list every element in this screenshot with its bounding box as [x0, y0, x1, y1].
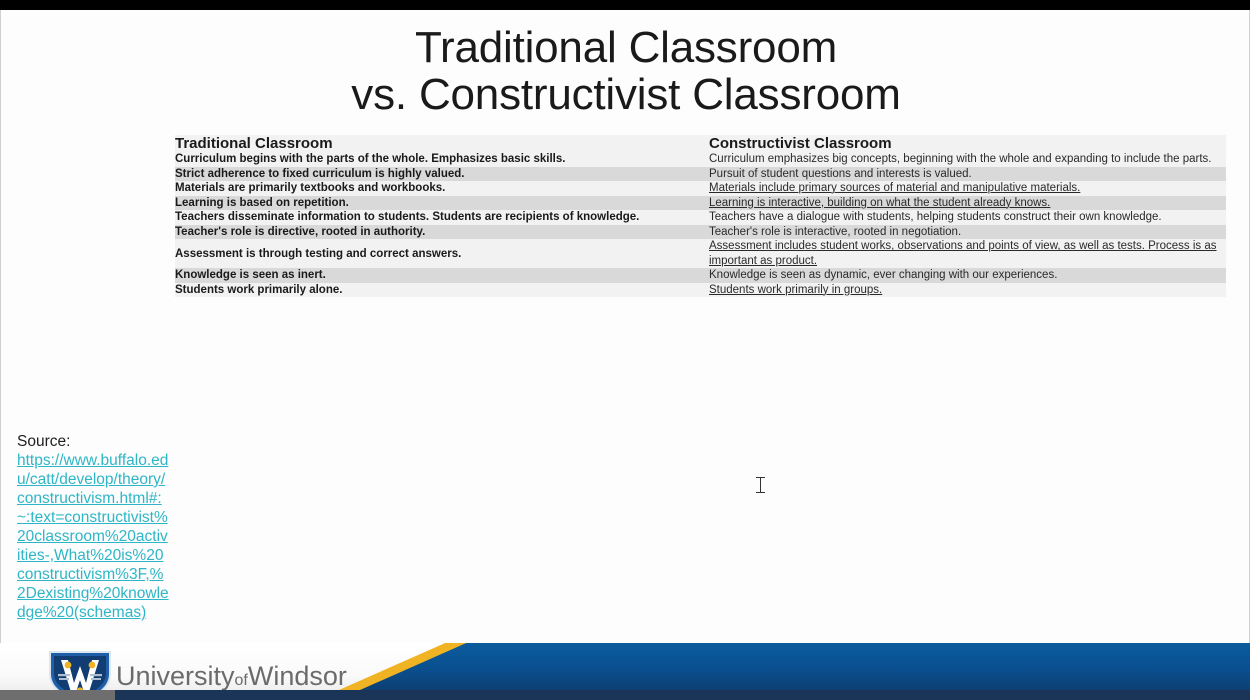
- traditional-cell: Materials are primarily textbooks and wo…: [175, 181, 709, 196]
- column-header-constructivist: Constructivist Classroom: [709, 135, 1226, 152]
- constructivist-cell-link[interactable]: Students work primarily in groups.: [709, 284, 882, 296]
- source-citation: Source: https://www.buffalo.edu/catt/dev…: [17, 432, 169, 622]
- constructivist-cell: Teacher's role is interactive, rooted in…: [709, 225, 1226, 240]
- constructivist-cell-link[interactable]: Learning is interactive, building on wha…: [709, 197, 1050, 209]
- constructivist-cell-link[interactable]: Assessment includes student works, obser…: [709, 240, 1217, 267]
- constructivist-cell: Teachers have a dialogue with students, …: [709, 210, 1226, 225]
- traditional-cell: Teacher's role is directive, rooted in a…: [175, 225, 709, 240]
- constructivist-cell-text: Pursuit of student questions and interes…: [709, 168, 972, 180]
- slide-canvas: Traditional Classroom vs. Constructivist…: [0, 10, 1250, 643]
- constructivist-cell[interactable]: Learning is interactive, building on wha…: [709, 196, 1226, 211]
- page-title-line-1: Traditional Classroom: [415, 23, 837, 72]
- text-cursor-icon: [755, 476, 766, 494]
- constructivist-cell-text: Teacher's role is interactive, rooted in…: [709, 226, 961, 238]
- traditional-cell: Students work primarily alone.: [175, 283, 709, 298]
- page-title: Traditional Classroom vs. Constructivist…: [1, 24, 1250, 118]
- source-link[interactable]: https://www.buffalo.edu/catt/develop/the…: [17, 452, 169, 621]
- wordmark-university: University: [116, 661, 235, 691]
- traditional-cell: Teachers disseminate information to stud…: [175, 210, 709, 225]
- traditional-cell: Curriculum begins with the parts of the …: [175, 152, 709, 167]
- constructivist-cell: Pursuit of student questions and interes…: [709, 167, 1226, 182]
- comparison-table: Traditional ClassroomConstructivist Clas…: [175, 135, 1226, 297]
- column-header-traditional: Traditional Classroom: [175, 135, 709, 152]
- constructivist-cell: Knowledge is seen as dynamic, ever chang…: [709, 268, 1226, 283]
- table-row: Knowledge is seen as inert.Knowledge is …: [175, 268, 1226, 283]
- constructivist-cell-link[interactable]: Materials include primary sources of mat…: [709, 182, 1080, 194]
- bottom-strip-blue: [115, 690, 1250, 700]
- table-row: Strict adherence to fixed curriculum is …: [175, 167, 1226, 182]
- constructivist-cell-text: Curriculum emphasizes big concepts, begi…: [709, 153, 1211, 165]
- university-wordmark: UniversityofWindsor: [116, 660, 347, 692]
- table-row: Teacher's role is directive, rooted in a…: [175, 225, 1226, 240]
- top-black-bar: [0, 0, 1250, 10]
- traditional-cell: Strict adherence to fixed curriculum is …: [175, 167, 709, 182]
- wordmark-windsor: Windsor: [248, 661, 347, 691]
- traditional-cell: Learning is based on repetition.: [175, 196, 709, 211]
- table-row: Students work primarily alone.Students w…: [175, 283, 1226, 298]
- constructivist-cell[interactable]: Assessment includes student works, obser…: [709, 239, 1226, 268]
- constructivist-cell[interactable]: Materials include primary sources of mat…: [709, 181, 1226, 196]
- constructivist-cell: Curriculum emphasizes big concepts, begi…: [709, 152, 1226, 167]
- wordmark-of: of: [235, 672, 248, 689]
- constructivist-cell-text: Teachers have a dialogue with students, …: [709, 211, 1162, 223]
- constructivist-cell[interactable]: Students work primarily in groups.: [709, 283, 1226, 298]
- table-row: Learning is based on repetition.Learning…: [175, 196, 1226, 211]
- traditional-cell: Knowledge is seen as inert.: [175, 268, 709, 283]
- traditional-cell: Assessment is through testing and correc…: [175, 239, 709, 268]
- table-row: Teachers disseminate information to stud…: [175, 210, 1226, 225]
- source-label: Source:: [17, 433, 70, 450]
- constructivist-cell-text: Knowledge is seen as dynamic, ever chang…: [709, 269, 1057, 281]
- table-row: Curriculum begins with the parts of the …: [175, 152, 1226, 167]
- page-title-line-2: vs. Constructivist Classroom: [1, 71, 1250, 118]
- table-header-row: Traditional ClassroomConstructivist Clas…: [175, 135, 1226, 152]
- table-row: Assessment is through testing and correc…: [175, 239, 1226, 268]
- table-row: Materials are primarily textbooks and wo…: [175, 181, 1226, 196]
